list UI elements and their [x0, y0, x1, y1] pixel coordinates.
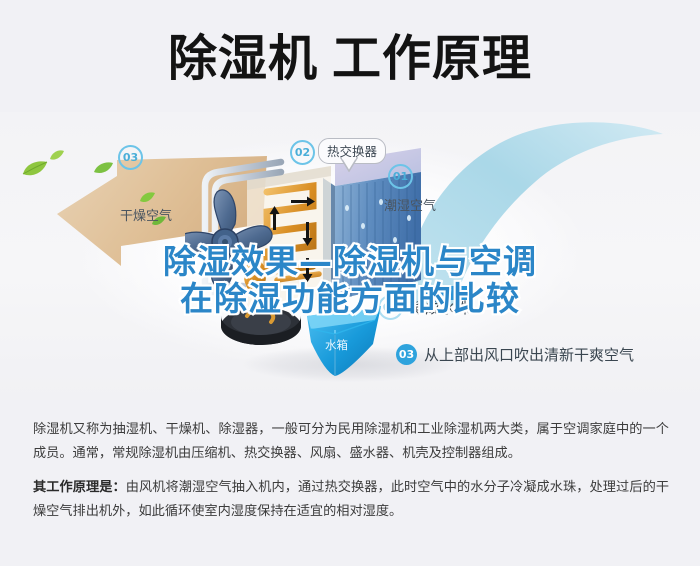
page-root: 除湿机工作原理 [0, 0, 700, 566]
paragraph-2-lead: 其工作原理是： [33, 480, 126, 495]
diagram-stage: 03 干燥空气 02 热交换器 01 潮湿空气 水箱 02 凝成水珠 03 从上… [0, 112, 700, 400]
note-badge-02: 02 [378, 295, 403, 320]
leaf-icon [50, 150, 64, 161]
note-line-02: 02 凝成水珠 [378, 295, 470, 320]
note-line-03: 03 从上部出风口吹出清新干爽空气 [396, 344, 634, 365]
note-badge-03: 03 [396, 344, 417, 365]
title-part-1: 除湿机 [168, 30, 318, 87]
label-water-tank: 水箱 [325, 337, 348, 353]
step-badge-02: 02 [290, 140, 315, 165]
callout-tail-icon [340, 157, 358, 172]
note-text-02: 凝成水珠 [410, 297, 470, 318]
paragraph-1: 除湿机又称为抽湿机、干燥机、除湿器，一般可分为民用除湿机和工业除湿机两大类，属于… [33, 418, 669, 466]
page-title: 除湿机工作原理 [0, 28, 700, 90]
step-badge-03: 03 [118, 145, 143, 170]
title-part-2: 工作原理 [332, 30, 532, 87]
step-badge-01: 01 [388, 164, 413, 189]
note-text-03: 从上部出风口吹出清新干爽空气 [424, 344, 634, 365]
label-dry-air: 干燥空气 [120, 205, 172, 224]
label-moist-air: 潮湿空气 [384, 195, 436, 214]
body-text-block: 除湿机又称为抽湿机、干燥机、除湿器，一般可分为民用除湿机和工业除湿机两大类，属于… [33, 418, 669, 534]
paragraph-2-rest: 由风机将潮湿空气抽入机内，通过热交换器，此时空气中的水分子冷凝成水珠，处理过后的… [33, 480, 669, 519]
leaf-icon [94, 162, 113, 175]
leaf-icon [140, 192, 155, 204]
leaf-icon [22, 160, 48, 178]
paragraph-2: 其工作原理是：由风机将潮湿空气抽入机内，通过热交换器，此时空气中的水分子冷凝成水… [33, 476, 669, 524]
